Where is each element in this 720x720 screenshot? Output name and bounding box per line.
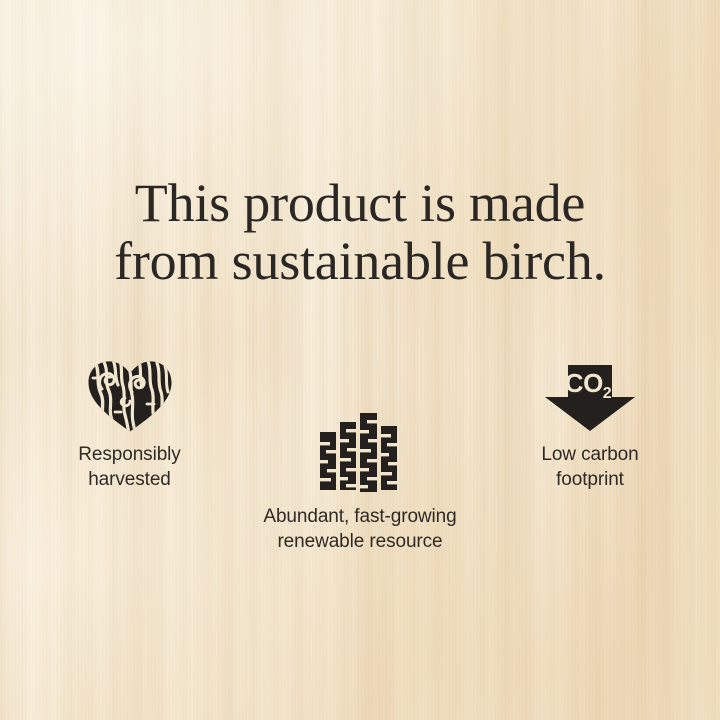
co2-icon-subscript: 2 xyxy=(603,385,612,402)
feature-renewable-resource: Abundant, fast-growing renewable resourc… xyxy=(232,412,488,554)
caption-line-2: footprint xyxy=(487,467,693,492)
feature-icon-slot xyxy=(27,360,232,432)
headline-line-1: This product is made xyxy=(0,175,720,233)
wood-grain-heart-icon xyxy=(87,360,173,432)
feature-caption: Low carbon footprint xyxy=(487,442,693,492)
sustainable-birch-card: This product is made from sustainable bi… xyxy=(0,0,720,720)
page-title: This product is made from sustainable bi… xyxy=(0,175,720,291)
feature-responsibly-harvested: Responsibly harvested xyxy=(27,360,232,492)
birch-trunks-icon xyxy=(319,412,401,492)
feature-low-carbon-footprint: CO2 Low carbon footprint xyxy=(487,360,693,492)
caption-line-2: harvested xyxy=(27,467,232,492)
caption-line-1: Abundant, fast-growing xyxy=(232,504,488,529)
card-content: This product is made from sustainable bi… xyxy=(0,0,720,720)
caption-line-1: Low carbon xyxy=(487,442,693,467)
feature-caption: Responsibly harvested xyxy=(27,442,232,492)
feature-caption: Abundant, fast-growing renewable resourc… xyxy=(232,504,488,554)
caption-line-1: Responsibly xyxy=(27,442,232,467)
co2-down-arrow-icon: CO2 xyxy=(542,364,638,432)
headline-line-2: from sustainable birch. xyxy=(0,233,720,291)
caption-line-2: renewable resource xyxy=(232,529,488,554)
feature-icon-slot: CO2 xyxy=(487,360,693,432)
feature-icon-slot xyxy=(232,412,488,492)
